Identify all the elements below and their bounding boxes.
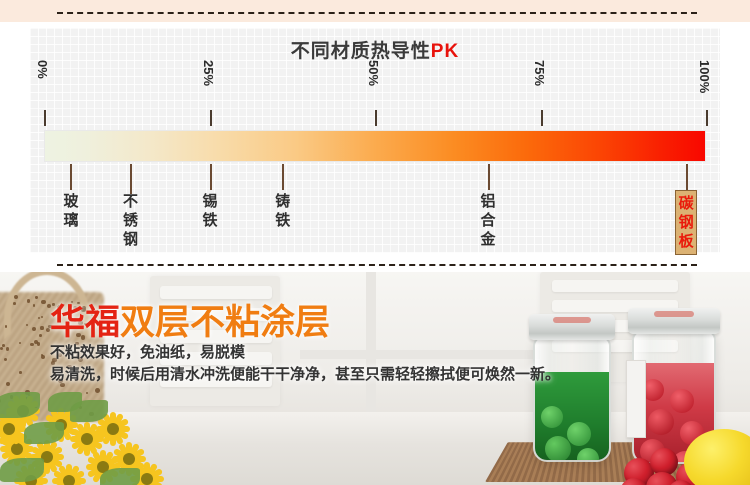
- jar-paper-label: [626, 360, 646, 438]
- material-leader-line: [488, 164, 490, 190]
- green-fruit: [541, 406, 563, 428]
- material-leader-line: [686, 164, 688, 190]
- leaf: [48, 392, 82, 412]
- basket-speck: [35, 296, 37, 298]
- product-detail-page: 不同材质热导性PK 0%25%50%75%100% 玻璃不锈钢锡铁铸铁铝合金碳钢…: [0, 0, 750, 485]
- green-fruit: [567, 422, 591, 446]
- red-cherry: [648, 409, 674, 435]
- axis-tick-mark: [210, 110, 212, 126]
- axis-tick-label: 0%: [35, 60, 50, 79]
- chair-slat: [552, 280, 678, 292]
- chart-title-text: 不同材质热导性: [291, 41, 431, 62]
- promo-headline: 华福双层不粘涂层: [50, 294, 330, 345]
- axis-tick-mark: [541, 110, 543, 126]
- material-leader-line: [210, 164, 212, 190]
- material-label-2: 不锈钢: [122, 192, 139, 249]
- bottom-dashed-divider: [57, 264, 697, 266]
- thermal-conductivity-chart: 不同材质热导性PK 0%25%50%75%100% 玻璃不锈钢锡铁铸铁铝合金碳钢…: [30, 28, 720, 253]
- material-label-5: 铝合金: [480, 192, 497, 249]
- promo-description: 不粘效果好，免油纸，易脱模 易清洗，时候后用清水冲洗便能干干净净，甚至只需轻轻擦…: [50, 342, 560, 386]
- top-peach-band: [0, 0, 750, 22]
- green-fruit: [545, 436, 571, 462]
- promo-line-1: 不粘效果好，免油纸，易脱模: [50, 342, 560, 364]
- material-label-1: 玻璃: [62, 192, 79, 230]
- axis-tick-mark: [375, 110, 377, 126]
- material-label-4: 铸铁: [274, 192, 291, 230]
- axis-tick-label: 50%: [366, 60, 381, 86]
- jar-green: [533, 314, 611, 462]
- axis-tick-mark: [44, 110, 46, 126]
- leaf: [100, 468, 140, 485]
- material-label-6: 碳钢板: [675, 190, 697, 255]
- daisy-center: [141, 473, 153, 485]
- chart-title: 不同材质热导性PK: [30, 36, 720, 63]
- basket-speck: [14, 295, 18, 299]
- material-leader-line: [282, 164, 284, 190]
- jar-lid: [628, 308, 720, 334]
- material-leader-line: [70, 164, 72, 190]
- basket-speck: [27, 299, 30, 302]
- daisy-center: [63, 475, 75, 485]
- axis-tick-label: 100%: [697, 60, 712, 93]
- promo-headline-brand: 华福: [50, 303, 120, 342]
- basket-speck: [30, 343, 33, 346]
- promo-photo-section: 华福双层不粘涂层 不粘效果好，免油纸，易脱模 易清洗，时候后用清水冲洗便能干干净…: [0, 272, 750, 485]
- top-dashed-divider: [57, 12, 697, 14]
- jar-lid: [529, 314, 615, 340]
- material-leader-line: [130, 164, 132, 194]
- conductivity-gradient-bar: [44, 130, 706, 162]
- axis-tick-mark: [706, 110, 708, 126]
- basket-speck: [33, 304, 36, 307]
- basket-speck: [19, 371, 22, 374]
- basket-speck: [40, 326, 43, 329]
- material-label-3: 锡铁: [202, 192, 219, 230]
- leaf: [24, 422, 64, 444]
- daisy-flower: [52, 464, 86, 485]
- basket-speck: [41, 300, 45, 304]
- red-cherry: [670, 389, 694, 413]
- promo-line-2: 易清洗，时候后用清水冲洗便能干干净净，甚至只需轻轻擦拭便可焕然一新。: [50, 364, 560, 386]
- daisy-center: [107, 423, 119, 435]
- basket-speck: [6, 347, 9, 350]
- daisy-center: [81, 433, 93, 445]
- chart-title-accent: PK: [431, 41, 459, 62]
- green-fruit: [539, 460, 563, 462]
- daisy-center: [3, 423, 15, 435]
- axis-tick-label: 75%: [532, 60, 547, 86]
- green-fruit: [577, 448, 599, 462]
- promo-headline-feature: 双层不粘涂层: [120, 303, 330, 342]
- leaf: [0, 458, 44, 482]
- axis-tick-label: 25%: [201, 60, 216, 86]
